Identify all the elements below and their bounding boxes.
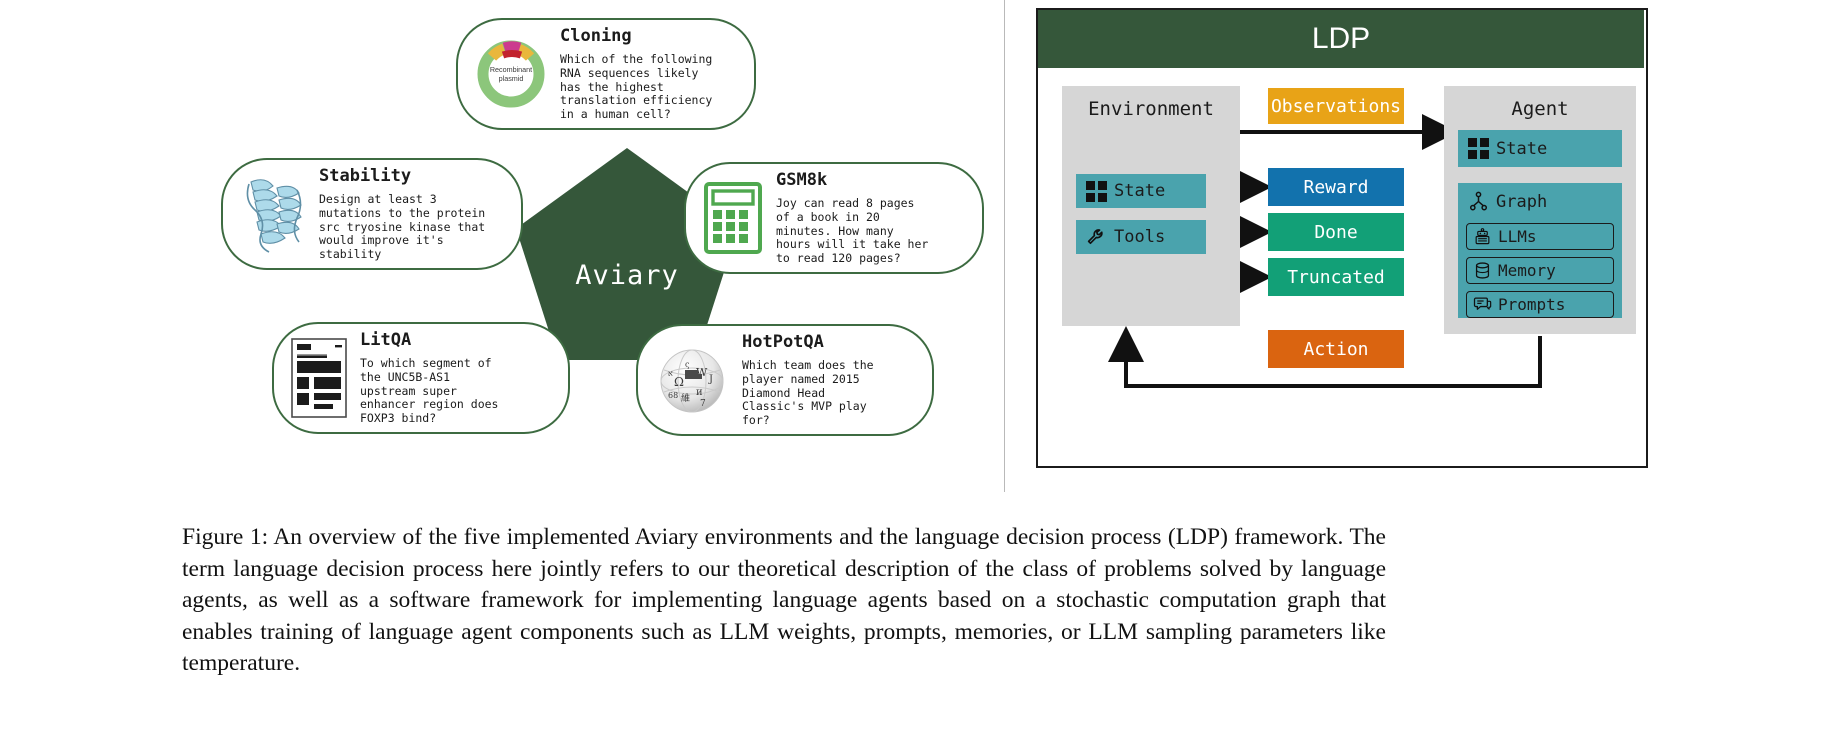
four-squares-icon: [1468, 138, 1489, 159]
environment-tools-label: Tools: [1114, 227, 1165, 247]
environment-tools-chip[interactable]: Tools: [1076, 220, 1206, 254]
svg-text:и: и: [696, 387, 703, 398]
agent-title: Agent: [1444, 98, 1636, 120]
calculator-icon: [700, 180, 766, 256]
env-card-title: GSM8k: [776, 170, 968, 190]
env-card-body: LitQA To which segment of the UNC5B-AS1 …: [350, 330, 554, 426]
svg-text:ς: ς: [685, 360, 690, 369]
svg-text:Ω: Ω: [674, 375, 684, 389]
svg-text:plasmid: plasmid: [499, 74, 524, 83]
environment-title: Environment: [1062, 98, 1240, 120]
agent-graph-header: Graph: [1468, 191, 1547, 212]
agent-llms-chip[interactable]: LLMs: [1466, 223, 1614, 250]
signal-action[interactable]: Action: [1268, 330, 1404, 368]
agent-graph-label-text: Graph: [1496, 192, 1547, 212]
signal-observations-label: Observations: [1271, 96, 1401, 117]
environment-state-chip[interactable]: State: [1076, 174, 1206, 208]
svg-text:維: 維: [681, 392, 690, 404]
env-card-body: Cloning Which of the following RNA seque…: [550, 26, 740, 122]
svg-text:J: J: [708, 374, 713, 385]
agent-graph-box[interactable]: Graph LLMs: [1458, 183, 1622, 318]
svg-text:7: 7: [700, 399, 706, 409]
four-squares-icon: [1086, 181, 1107, 202]
agent-state-chip[interactable]: State: [1458, 130, 1622, 167]
environment-state-label: State: [1114, 181, 1165, 201]
env-card-question: Which team does the player named 2015 Di…: [742, 359, 918, 428]
signal-done[interactable]: Done: [1268, 213, 1404, 251]
chat-bubble-icon: [1473, 295, 1492, 314]
signal-reward[interactable]: Reward: [1268, 168, 1404, 206]
aviary-environments-panel: Aviary Recombinant plasmid Clo: [0, 0, 1004, 500]
env-card-stability[interactable]: Stability Design at least 3 mutations to…: [221, 158, 523, 270]
plasmid-ring-icon: Recombinant plasmid: [472, 35, 550, 113]
env-card-title: Stability: [319, 166, 507, 186]
database-icon: [1473, 261, 1492, 280]
env-card-title: HotPotQA: [742, 332, 918, 352]
signal-reward-label: Reward: [1303, 177, 1368, 198]
wrench-icon: [1086, 227, 1107, 248]
svg-text:68: 68: [668, 391, 678, 400]
ldp-title: LDP: [1312, 22, 1370, 56]
env-card-cloning[interactable]: Recombinant plasmid Cloning Which of the…: [456, 18, 756, 130]
env-card-hotpotqa[interactable]: Ω W J и 維 7 68 א ς HotP: [636, 324, 934, 436]
ldp-diagram-panel: LDP E: [1036, 8, 1648, 468]
robot-server-icon: [1473, 227, 1492, 246]
env-card-question: To which segment of the UNC5B-AS1 upstre…: [360, 357, 554, 426]
env-card-body: Stability Design at least 3 mutations to…: [309, 166, 507, 262]
signal-truncated-label: Truncated: [1287, 267, 1385, 288]
env-card-gsm8k[interactable]: GSM8k Joy can read 8 pages of a book in …: [684, 162, 984, 274]
agent-memory-chip[interactable]: Memory: [1466, 257, 1614, 284]
env-card-litqa[interactable]: LitQA To which segment of the UNC5B-AS1 …: [272, 322, 570, 434]
svg-text:Recombinant: Recombinant: [490, 65, 532, 74]
signal-observations[interactable]: Observations: [1268, 88, 1404, 124]
env-card-title: Cloning: [560, 26, 740, 46]
svg-text:א: א: [668, 369, 673, 378]
node-graph-icon: [1468, 191, 1489, 212]
figure-caption: Figure 1: An overview of the five implem…: [182, 522, 1386, 680]
signal-done-label: Done: [1314, 222, 1357, 243]
env-card-body: HotPotQA Which team does the player name…: [732, 332, 918, 428]
signal-truncated[interactable]: Truncated: [1268, 258, 1404, 296]
wikipedia-globe-icon: Ω W J и 維 7 68 א ς: [652, 340, 732, 420]
agent-prompts-label: Prompts: [1498, 295, 1565, 314]
ldp-header: LDP: [1038, 10, 1644, 68]
env-card-question: Which of the following RNA sequences lik…: [560, 53, 740, 122]
env-card-question: Design at least 3 mutations to the prote…: [319, 193, 507, 262]
signal-action-label: Action: [1303, 339, 1368, 360]
agent-memory-label: Memory: [1498, 261, 1556, 280]
env-card-question: Joy can read 8 pages of a book in 20 min…: [776, 197, 968, 266]
agent-llms-label: LLMs: [1498, 227, 1537, 246]
agent-prompts-chip[interactable]: Prompts: [1466, 291, 1614, 318]
agent-state-label: State: [1496, 139, 1547, 159]
figure-graphic: Aviary Recombinant plasmid Clo: [0, 0, 1836, 500]
protein-structure-icon: [237, 170, 309, 258]
env-card-title: LitQA: [360, 330, 554, 350]
panel-divider: [1004, 0, 1005, 492]
figure-page: Aviary Recombinant plasmid Clo: [0, 0, 1836, 729]
aviary-center-label: Aviary: [575, 260, 679, 291]
env-card-body: GSM8k Joy can read 8 pages of a book in …: [766, 170, 968, 266]
document-page-icon: [288, 336, 350, 420]
